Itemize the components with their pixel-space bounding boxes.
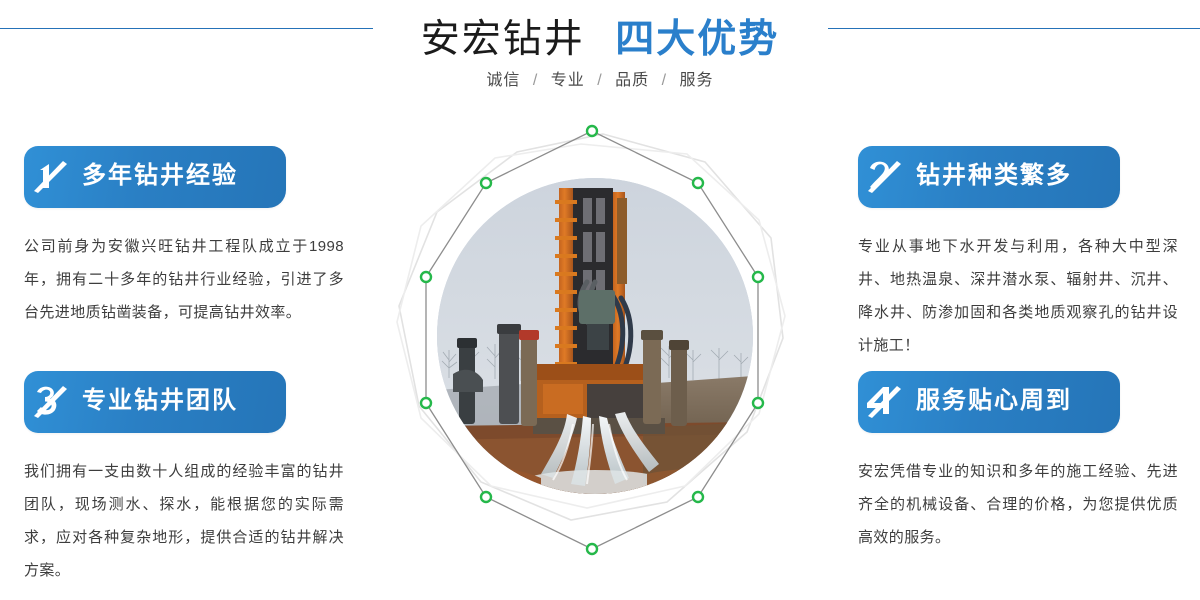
feature-title-4: 服务贴心周到 xyxy=(916,389,1072,415)
drilling-rig-illustration xyxy=(437,178,753,494)
numeral-four-icon xyxy=(858,371,916,433)
subtitle-item-1: 专业 xyxy=(551,72,585,89)
subtitle-item-3: 服务 xyxy=(680,72,714,89)
feature-body-1: 公司前身为安徽兴旺钻井工程队成立于1998年，拥有二十多年的钻井行业经验，引进了… xyxy=(24,230,344,329)
polygon-node xyxy=(693,492,703,502)
subtitle-separator-1: / xyxy=(597,72,602,89)
title-highlight: 四大优势 xyxy=(615,18,779,61)
subtitle-separator-0: / xyxy=(533,72,538,89)
polygon-node xyxy=(753,398,763,408)
polygon-node xyxy=(421,398,431,408)
numeral-two-icon xyxy=(858,146,916,208)
polygon-node xyxy=(587,544,597,554)
polygon-node xyxy=(421,272,431,282)
subtitle-separator-2: / xyxy=(662,72,667,89)
feature-badge-2[interactable]: 钻井种类繁多 xyxy=(858,146,1120,208)
numeral-three-icon xyxy=(24,371,82,433)
feature-card-4: 服务贴心周到 安宏凭借专业的知识和多年的施工经验、先进齐全的机械设备、合理的价格… xyxy=(858,371,1188,554)
page-title: 安宏钻井 四大优势 xyxy=(0,8,1200,64)
feature-body-4: 安宏凭借专业的知识和多年的施工经验、先进齐全的机械设备、合理的价格，为您提供优质… xyxy=(858,455,1178,554)
page-header: 安宏钻井 四大优势 诚信 / 专业 / 品质 / 服务 xyxy=(0,0,1200,112)
polygon-node xyxy=(481,178,491,188)
feature-body-3: 我们拥有一支由数十人组成的经验丰富的钻井团队，现场测水、探水，能根据您的实际需求… xyxy=(24,455,344,587)
center-graphic xyxy=(375,110,815,600)
feature-body-2: 专业从事地下水开发与利用，各种大中型深井、地热温泉、深井潜水泵、辐射井、沉井、降… xyxy=(858,230,1178,362)
subtitle-item-2: 品质 xyxy=(615,72,649,89)
subtitle: 诚信 / 专业 / 品质 / 服务 xyxy=(0,66,1200,90)
subtitle-item-0: 诚信 xyxy=(486,72,520,89)
feature-card-2: 钻井种类繁多 专业从事地下水开发与利用，各种大中型深井、地热温泉、深井潜水泵、辐… xyxy=(858,146,1188,362)
polygon-node xyxy=(753,272,763,282)
feature-card-1: 多年钻井经验 公司前身为安徽兴旺钻井工程队成立于1998年，拥有二十多年的钻井行… xyxy=(24,146,354,329)
polygon-node xyxy=(481,492,491,502)
feature-badge-1[interactable]: 多年钻井经验 xyxy=(24,146,286,208)
feature-title-3: 专业钻井团队 xyxy=(82,389,238,415)
title-primary: 安宏钻井 xyxy=(421,18,585,61)
feature-title-2: 钻井种类繁多 xyxy=(916,164,1072,190)
polygon-node xyxy=(587,126,597,136)
feature-badge-4[interactable]: 服务贴心周到 xyxy=(858,371,1120,433)
polygon-node xyxy=(693,178,703,188)
feature-card-3: 专业钻井团队 我们拥有一支由数十人组成的经验丰富的钻井团队，现场测水、探水，能根… xyxy=(24,371,354,587)
numeral-one-icon xyxy=(24,146,82,208)
drilling-site-photo xyxy=(437,178,753,494)
feature-title-1: 多年钻井经验 xyxy=(82,164,238,190)
feature-badge-3[interactable]: 专业钻井团队 xyxy=(24,371,286,433)
